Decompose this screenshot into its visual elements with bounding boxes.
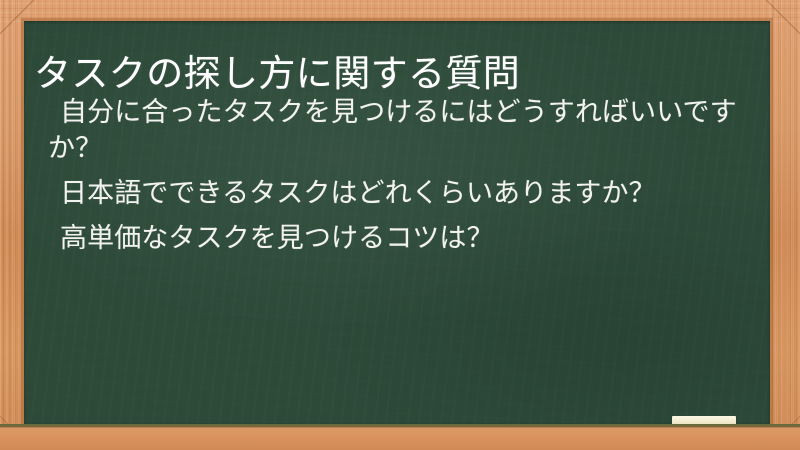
slide-title: タスクの探し方に関する質問 <box>34 52 754 96</box>
question-item-1: 自分に合ったタスクを見つけるにはどうすればいいですか？ <box>48 95 754 167</box>
question-item-3: 高単価なタスクを見つけるコツは？ <box>48 221 754 257</box>
question-item-2: 日本語でできるタスクはどれくらいありますか？ <box>48 176 754 212</box>
slide-content: タスクの探し方に関する質問 自分に合ったタスクを見つけるにはどうすればいいですか… <box>24 21 770 424</box>
chalk-ledge <box>0 424 800 450</box>
question-list: 自分に合ったタスクを見つけるにはどうすればいいですか？ 日本語でできるタスクはど… <box>48 95 754 266</box>
chalkboard-slate: タスクの探し方に関する質問 自分に合ったタスクを見つけるにはどうすればいいですか… <box>24 21 770 424</box>
chalkboard-slide: タスクの探し方に関する質問 自分に合ったタスクを見つけるにはどうすればいいですか… <box>0 0 800 450</box>
